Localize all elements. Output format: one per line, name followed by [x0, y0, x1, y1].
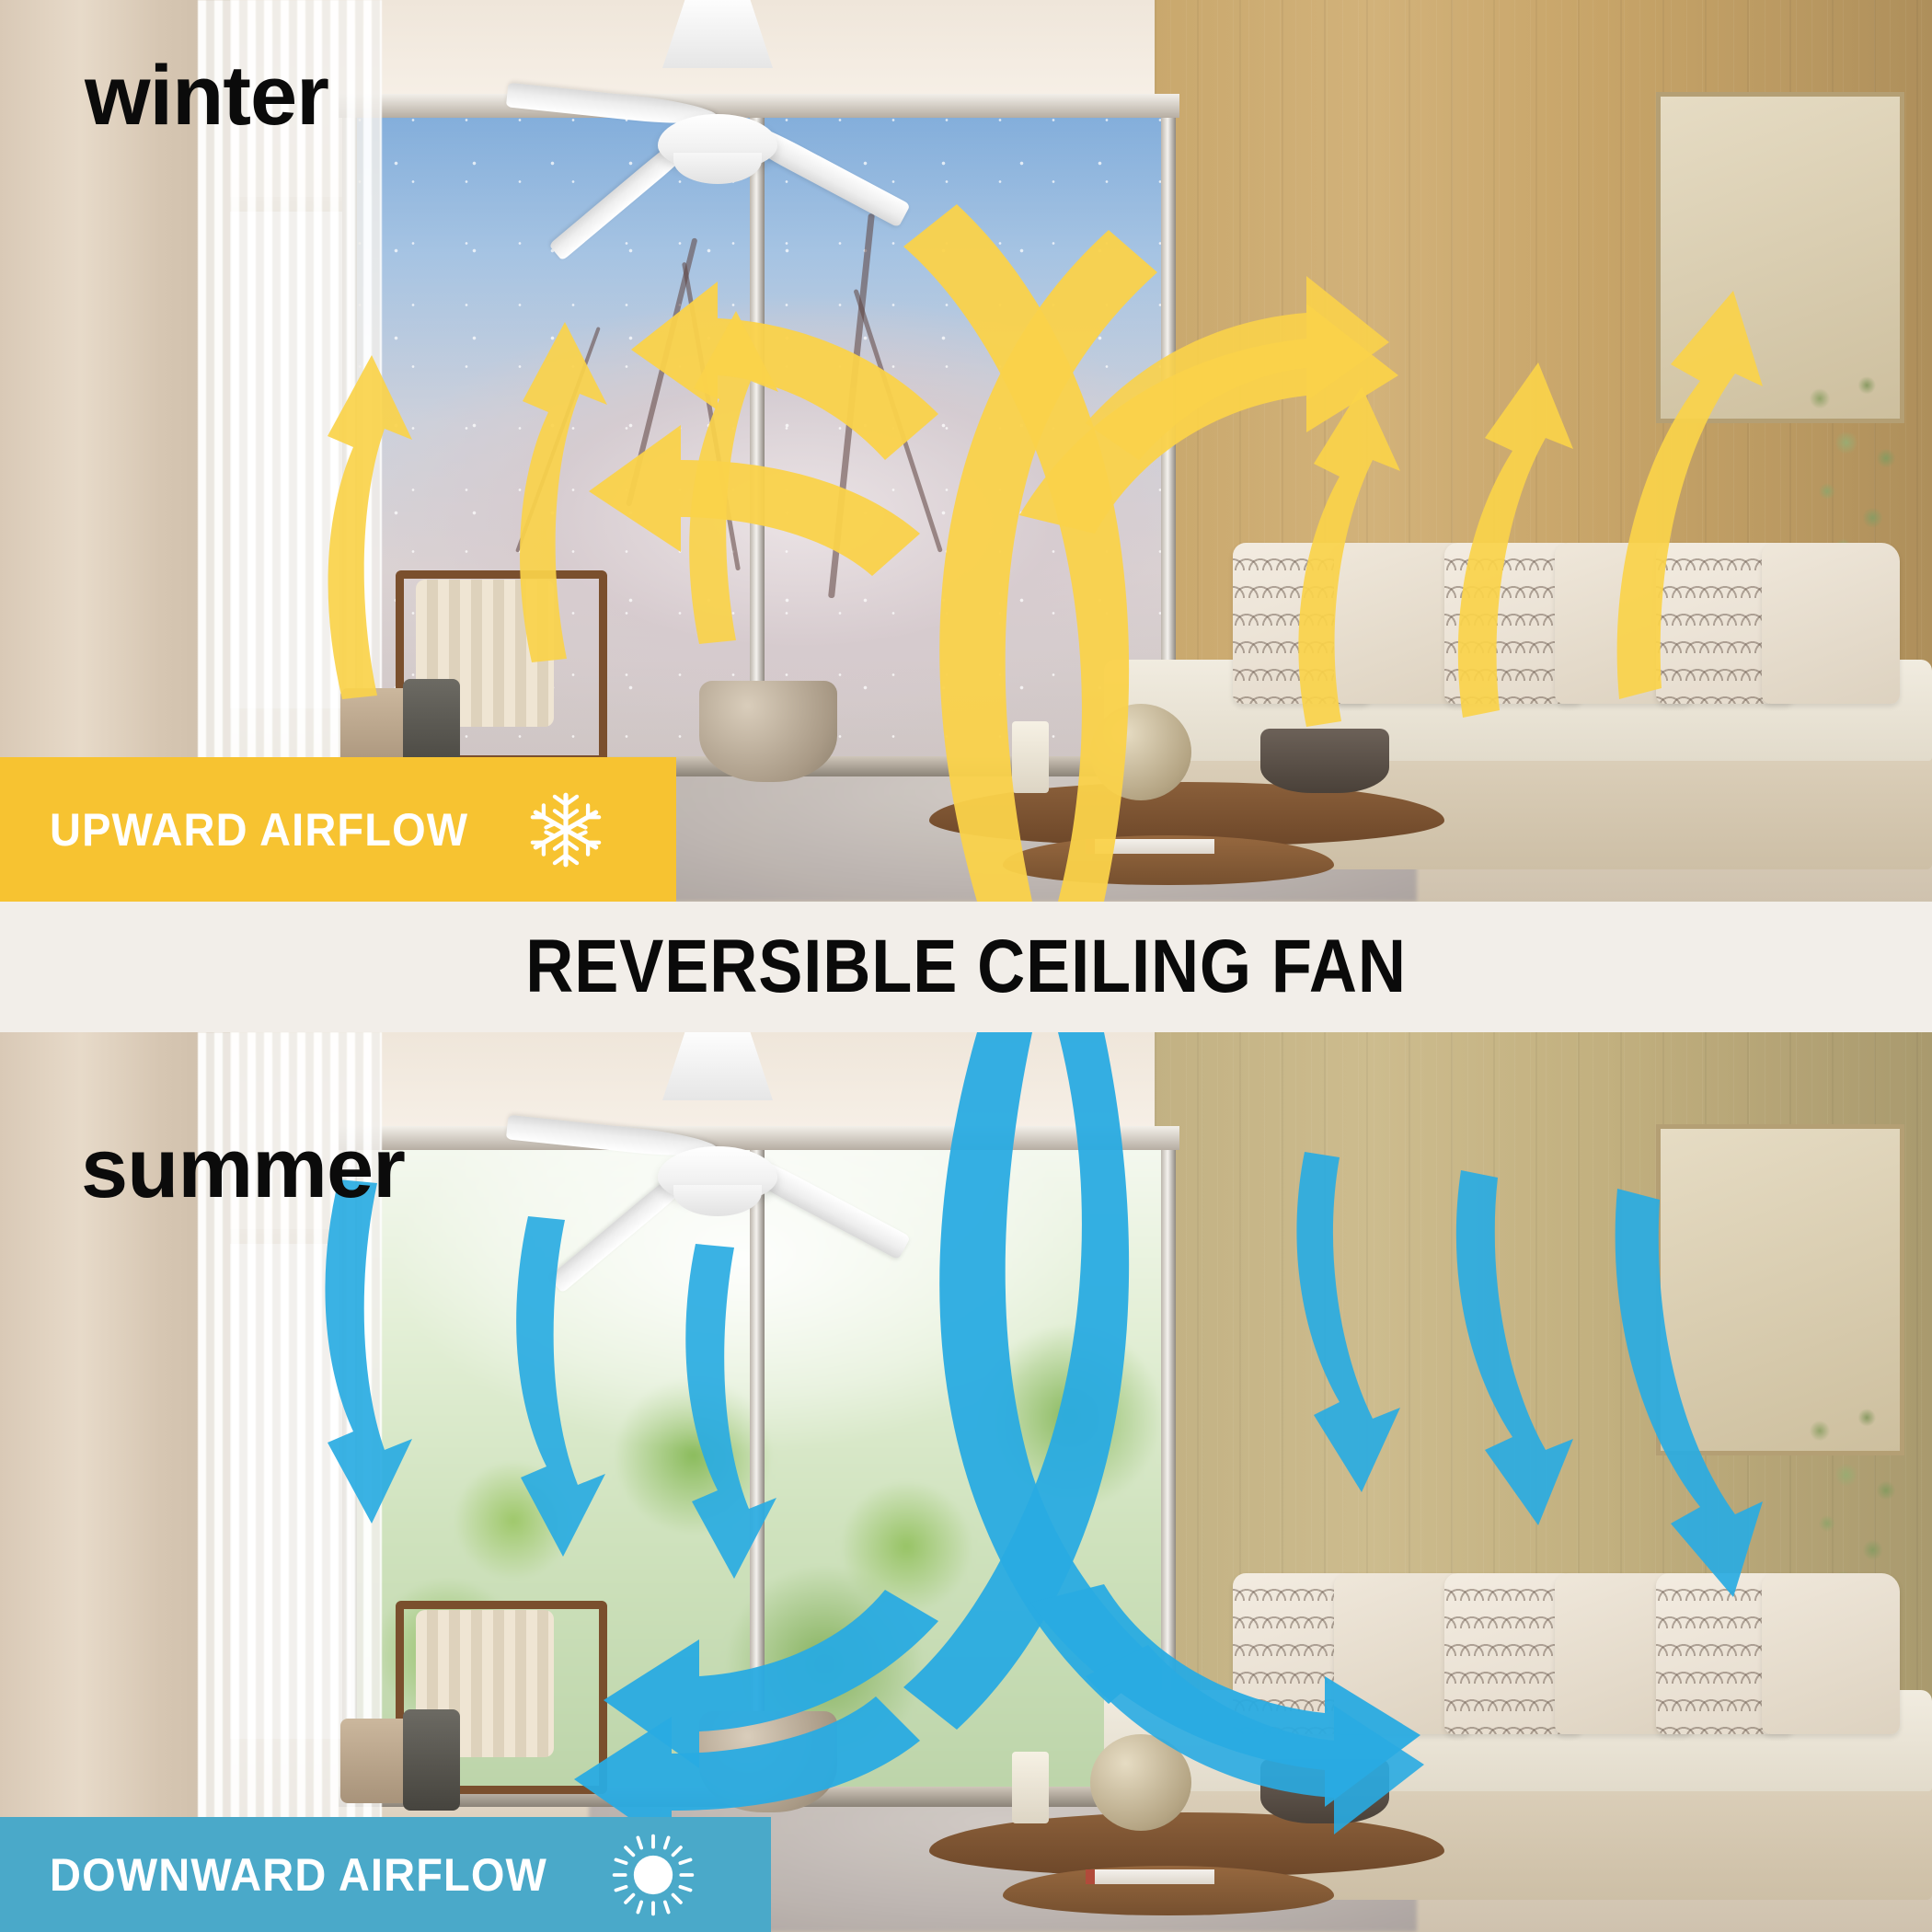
fan-downrod-mount [662, 0, 773, 68]
dark-jar [403, 1709, 460, 1811]
dark-planter [1260, 1759, 1389, 1823]
round-stone-vase [1090, 1734, 1191, 1831]
pillar-candle [1012, 721, 1049, 793]
downward-airflow-label: DOWNWARD AIRFLOW [50, 1848, 547, 1902]
fan-light-kit [673, 153, 762, 184]
ceiling-fan-summer [534, 1032, 902, 1238]
stone-pot [699, 1711, 837, 1812]
stone-pot [699, 681, 837, 782]
winter-label: winter [85, 53, 328, 138]
fan-downrod-mount [662, 1032, 773, 1100]
fan-light-kit [673, 1185, 762, 1216]
upward-airflow-ribbon: UPWARD AIRFLOW [0, 757, 676, 902]
upward-airflow-label: UPWARD AIRFLOW [50, 803, 468, 857]
book-on-table [1086, 1869, 1214, 1884]
page-title: REVERSIBLE CEILING FAN [525, 924, 1407, 1010]
round-stone-vase [1090, 704, 1191, 800]
dark-planter [1260, 729, 1389, 793]
ceramic-jar [340, 1719, 412, 1803]
downward-airflow-ribbon: DOWNWARD AIRFLOW [0, 1817, 771, 1932]
center-title-band: REVERSIBLE CEILING FAN [0, 902, 1932, 1032]
book-on-table [1086, 839, 1214, 854]
product-infographic: winter REVERSIBLE CEILING FAN [0, 0, 1932, 1932]
summer-label: summer [81, 1126, 405, 1211]
sun-icon [611, 1833, 696, 1917]
snowflake-icon [526, 790, 605, 869]
pillar-candle [1012, 1752, 1049, 1823]
ceiling-fan-winter [534, 0, 902, 206]
